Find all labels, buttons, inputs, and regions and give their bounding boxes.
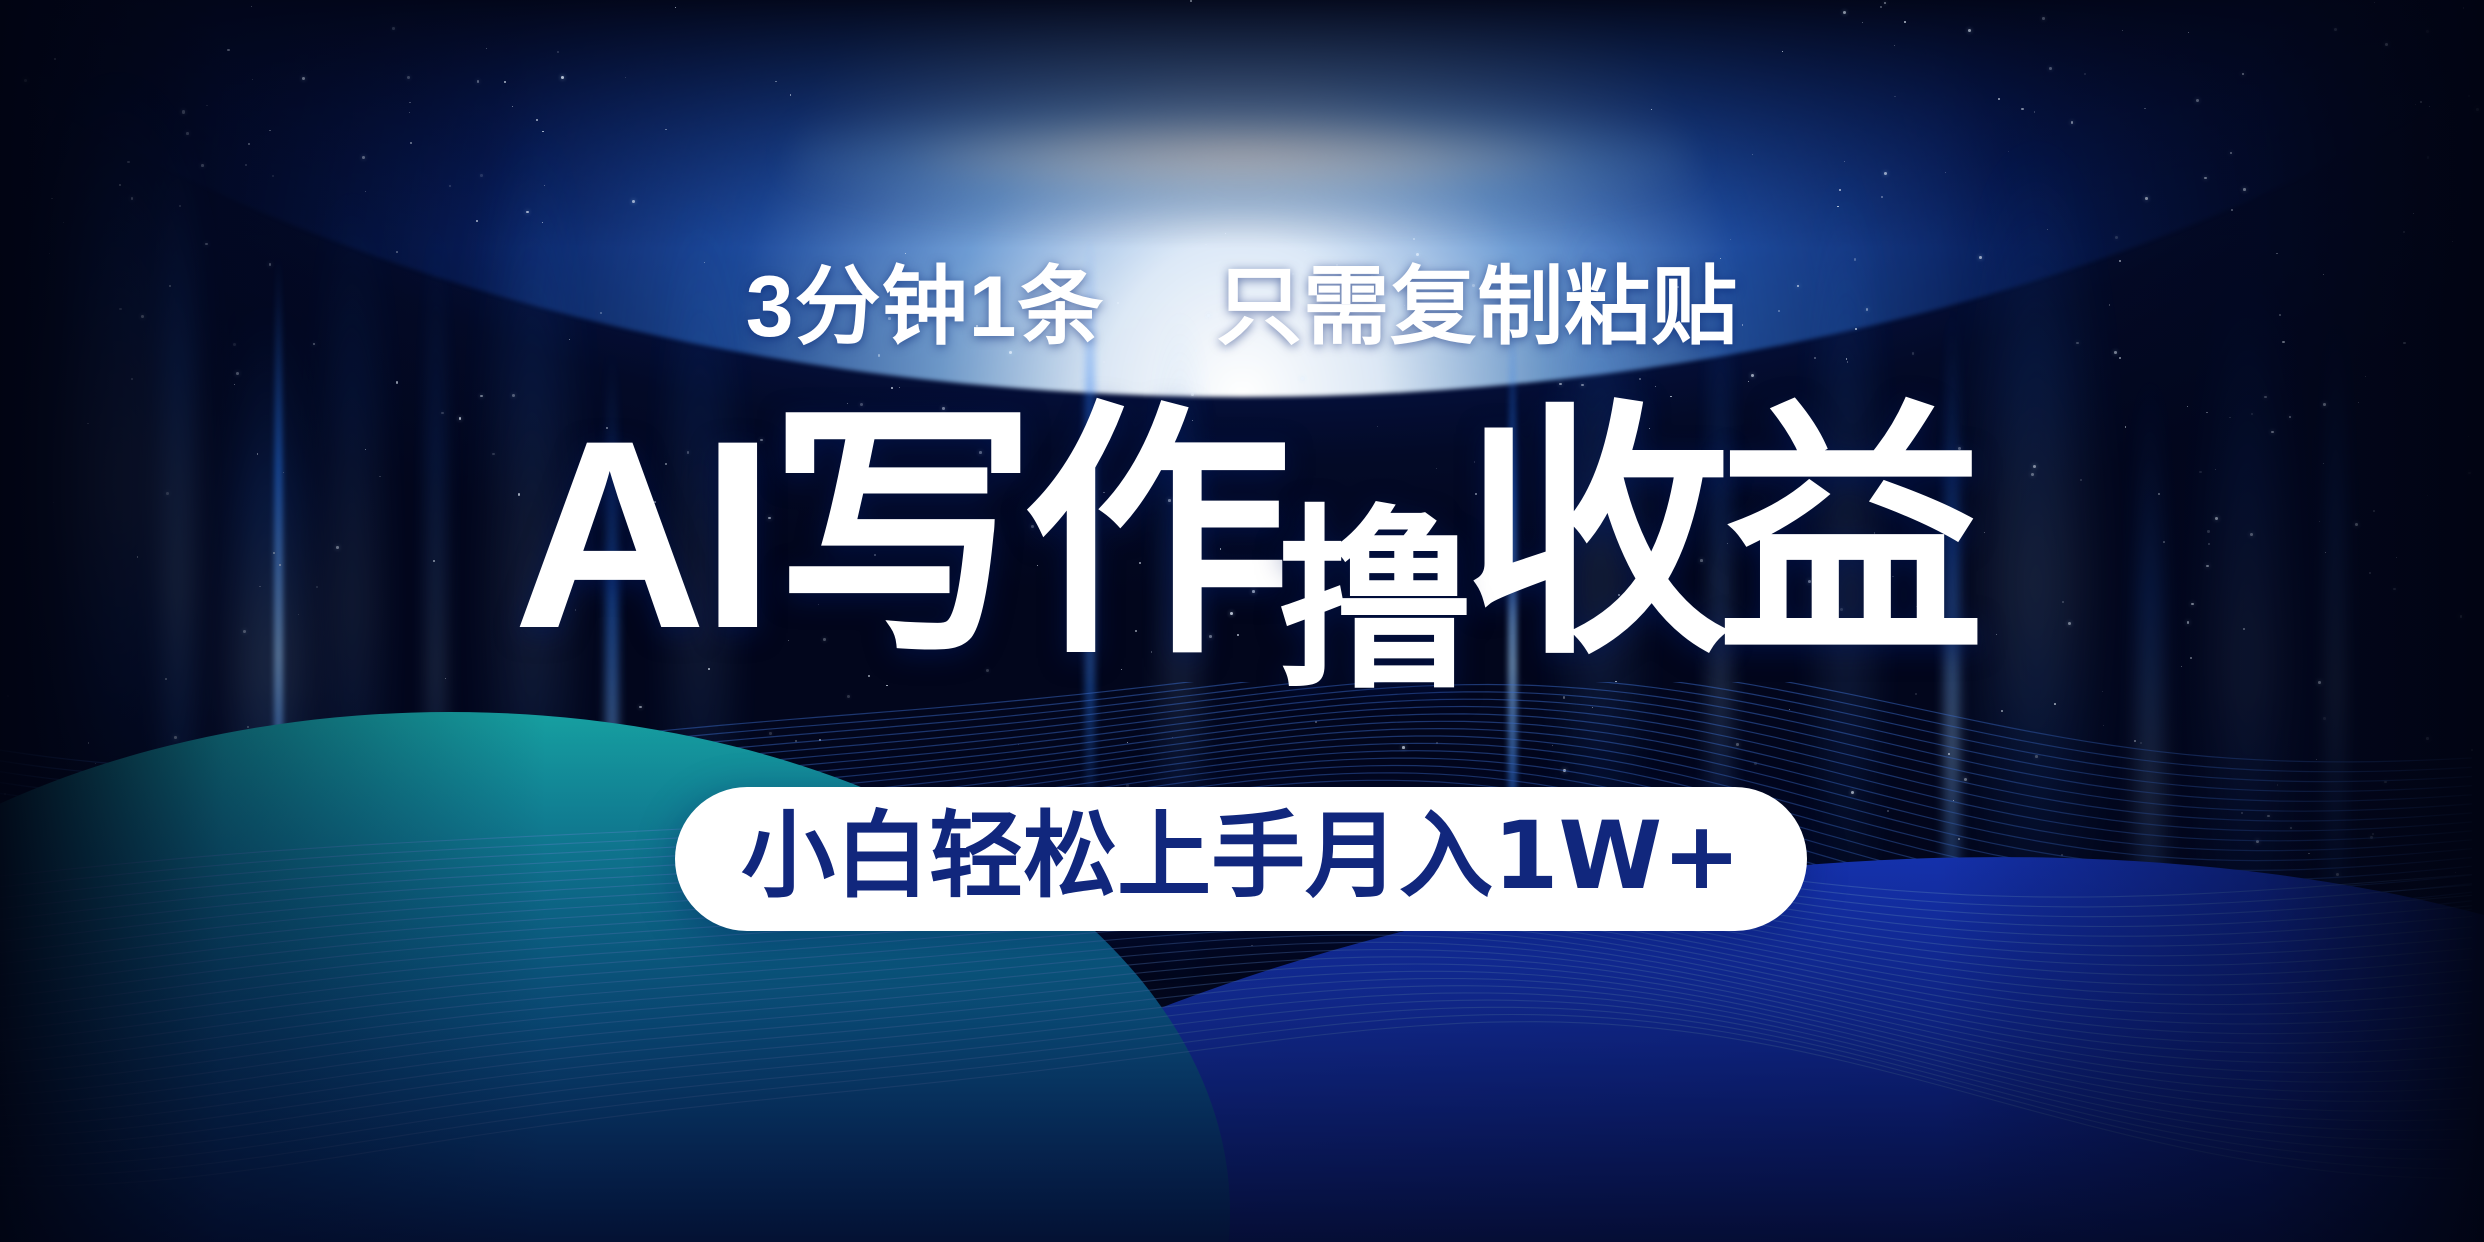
headline-word-writing: 写作: [769, 379, 1277, 691]
headline: AI写作撸收益: [0, 400, 2484, 669]
tagline-row: 3分钟1条 只需复制粘贴: [0, 264, 2484, 350]
subtitle-pill: 小白轻松上手月入1W+: [675, 787, 1807, 931]
headline-prefix-ai: AI: [513, 384, 769, 684]
poster-canvas: 3分钟1条 只需复制粘贴 AI写作撸收益 小白轻松上手月入1W+: [0, 0, 2484, 1242]
tagline-part-2: 只需复制粘贴: [1216, 259, 1738, 355]
poster-content: 3分钟1条 只需复制粘贴 AI写作撸收益 小白轻松上手月入1W+: [0, 0, 2484, 1242]
tagline-part-1: 3分钟1条: [746, 259, 1105, 355]
subtitle-pill-text: 小白轻松上手月入1W+: [741, 810, 1741, 904]
headline-word-lu: 撸: [1277, 504, 1463, 700]
headline-word-income: 收益: [1463, 379, 1971, 691]
